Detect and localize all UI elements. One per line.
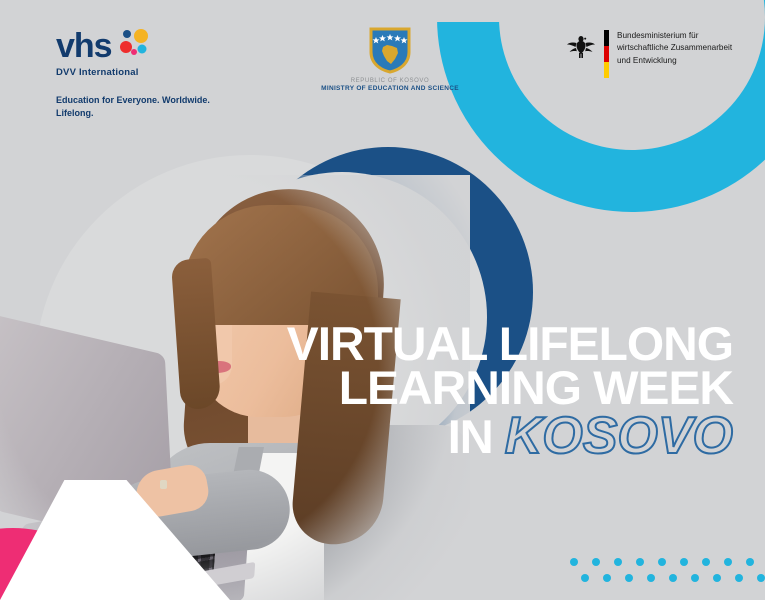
kosovo-ministry-logo: REPUBLIC OF KOSOVO MINISTRY OF EDUCATION… [300,26,480,92]
kosovo-coat-of-arms-icon [368,26,412,74]
vhs-tagline-line1: Education for Everyone. Worldwide. [56,94,286,107]
poster-canvas: vhs DVV International Education for Ever… [0,0,765,600]
decor-dot [680,558,688,566]
decor-dot [592,558,600,566]
decor-dot [757,574,765,582]
headline-kosovo: KOSOVO [505,410,733,462]
bmz-line3: und Entwicklung [617,55,732,67]
decor-dot [658,558,666,566]
bmz-line1: Bundesministerium für [617,30,732,42]
vhs-tagline: Education for Everyone. Worldwide. Lifel… [56,94,286,120]
vhs-dvv-logo: vhs DVV International Education for Ever… [56,28,286,120]
bmz-logo: Bundesministerium für wirtschaftliche Zu… [566,30,732,78]
cyan-ring-mask [437,0,637,22]
decor-dot [669,574,677,582]
headline-in: IN [448,413,493,460]
german-federal-eagle-icon [566,30,596,60]
vhs-tagline-line2: Lifelong. [56,107,286,120]
bmz-line2: wirtschaftliche Zusammenarbeit [617,42,732,54]
decor-dot [713,574,721,582]
headline-line-1: VIRTUAL LIFELONG [254,322,733,366]
headline-line-2: LEARNING WEEK [254,366,733,410]
vhs-subtitle: DVV International [56,67,286,78]
decor-dot [691,574,699,582]
decor-dot [647,574,655,582]
vhs-dots-icon [118,28,152,63]
dot-grid [570,558,760,594]
german-flag-bar-icon [604,30,609,78]
decor-dot [735,574,743,582]
decor-dot [603,574,611,582]
decor-dot [625,574,633,582]
decor-dot [746,558,754,566]
headline: VIRTUAL LIFELONG LEARNING WEEK IN KOSOVO [263,322,733,462]
kosovo-line1: REPUBLIC OF KOSOVO [300,78,480,84]
headline-line-3: IN KOSOVO [263,410,733,462]
decor-dot [570,558,578,566]
decor-dot [581,574,589,582]
decor-dot [614,558,622,566]
vhs-wordmark: vhs [56,29,112,63]
decor-dot [724,558,732,566]
kosovo-line2: MINISTRY OF EDUCATION AND SCIENCE [300,85,480,92]
finger-ring [160,480,167,489]
bmz-text: Bundesministerium für wirtschaftliche Zu… [617,30,732,67]
decor-dot [702,558,710,566]
decor-dot [636,558,644,566]
